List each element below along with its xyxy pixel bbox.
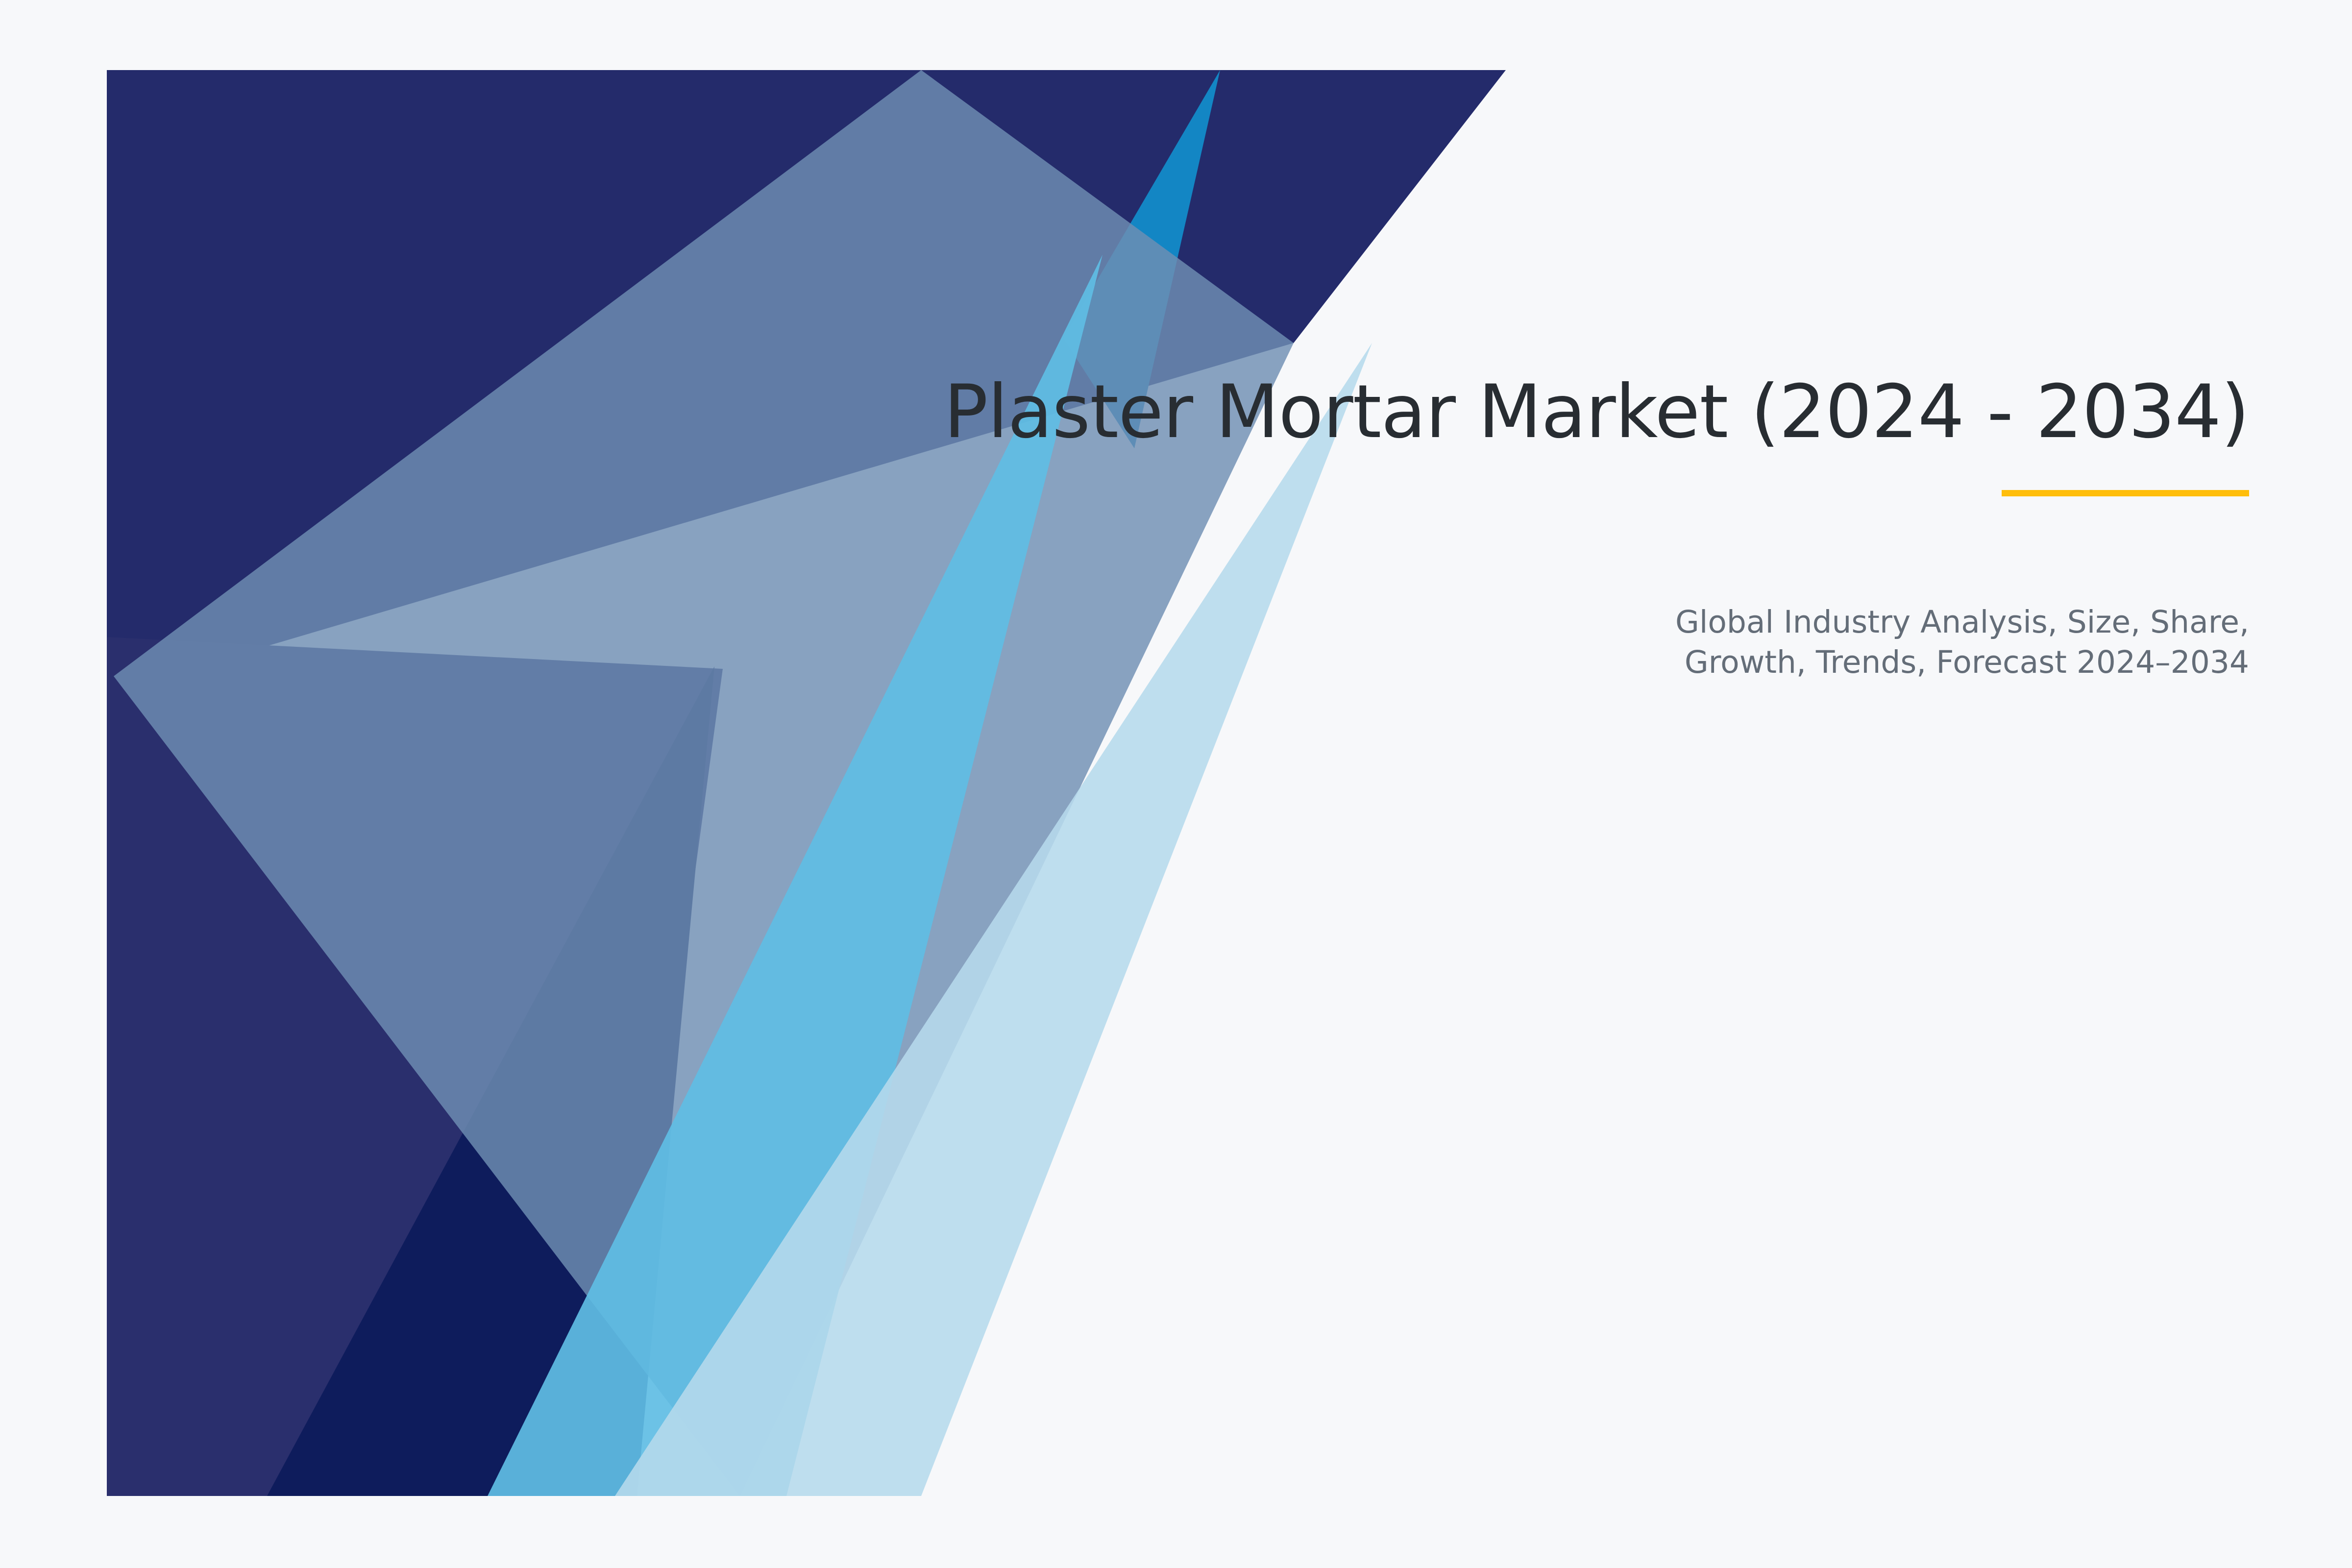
title-accent-rule xyxy=(2002,490,2249,496)
title-accent-rule-wrapper xyxy=(686,490,2249,499)
shape-navy-left-wedge xyxy=(107,637,723,1496)
shape-deep-navy-spike xyxy=(267,666,714,1496)
page-title: Plaster Mortar Market (2024 - 2034) xyxy=(686,372,2249,452)
artwork-shape-group xyxy=(107,70,1506,1496)
title-block: Plaster Mortar Market (2024 - 2034) Glob… xyxy=(686,372,2249,683)
shape-steel-overlay xyxy=(114,70,1294,1496)
page-subtitle: Global Industry Analysis, Size, Share, G… xyxy=(1612,602,2249,683)
slide-canvas: Plaster Mortar Market (2024 - 2034) Glob… xyxy=(0,0,2352,1568)
abstract-geometric-artwork xyxy=(0,0,2352,1568)
